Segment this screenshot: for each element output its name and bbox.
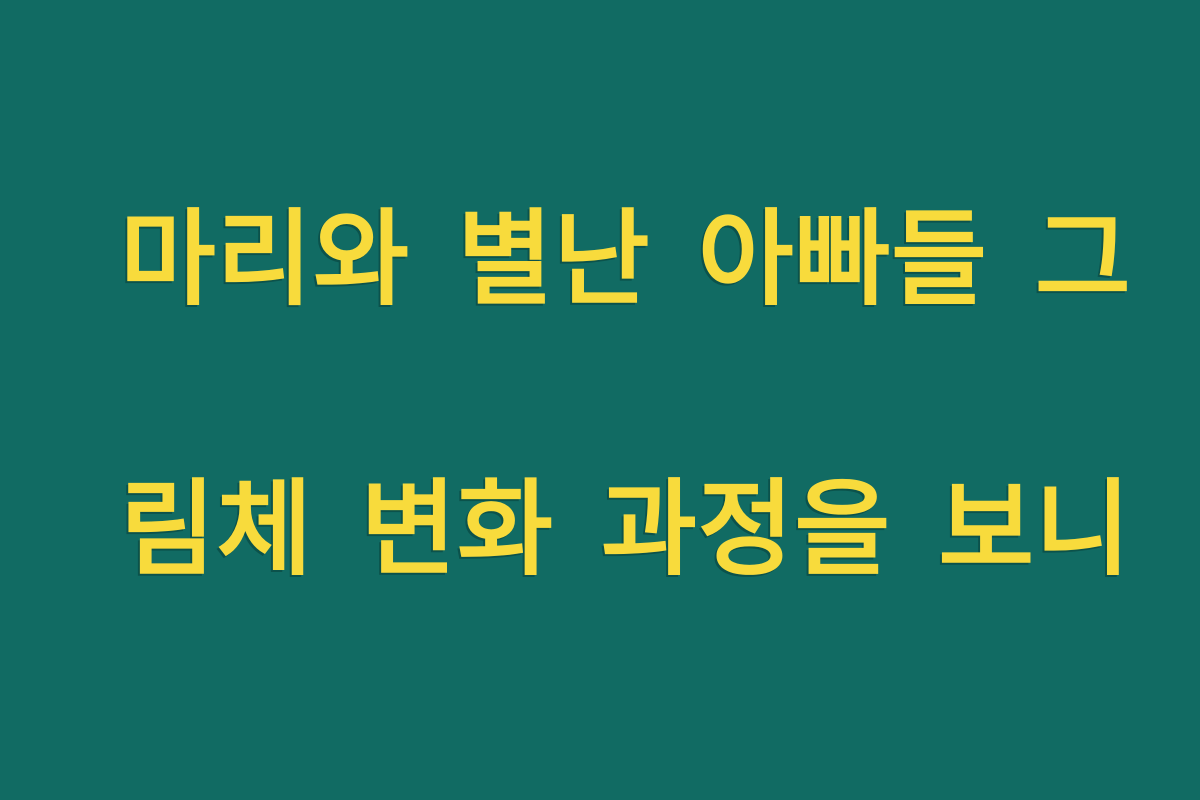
headline-text: 마리와 별난 아빠들 그 림체 변화 과정을 보니 <box>120 57 1080 732</box>
headline-line-1: 마리와 별난 아빠들 그 <box>120 192 1080 327</box>
title-card: 마리와 별난 아빠들 그 림체 변화 과정을 보니 <box>0 0 1200 800</box>
headline-line-2: 림체 변화 과정을 보니 <box>120 462 1080 597</box>
